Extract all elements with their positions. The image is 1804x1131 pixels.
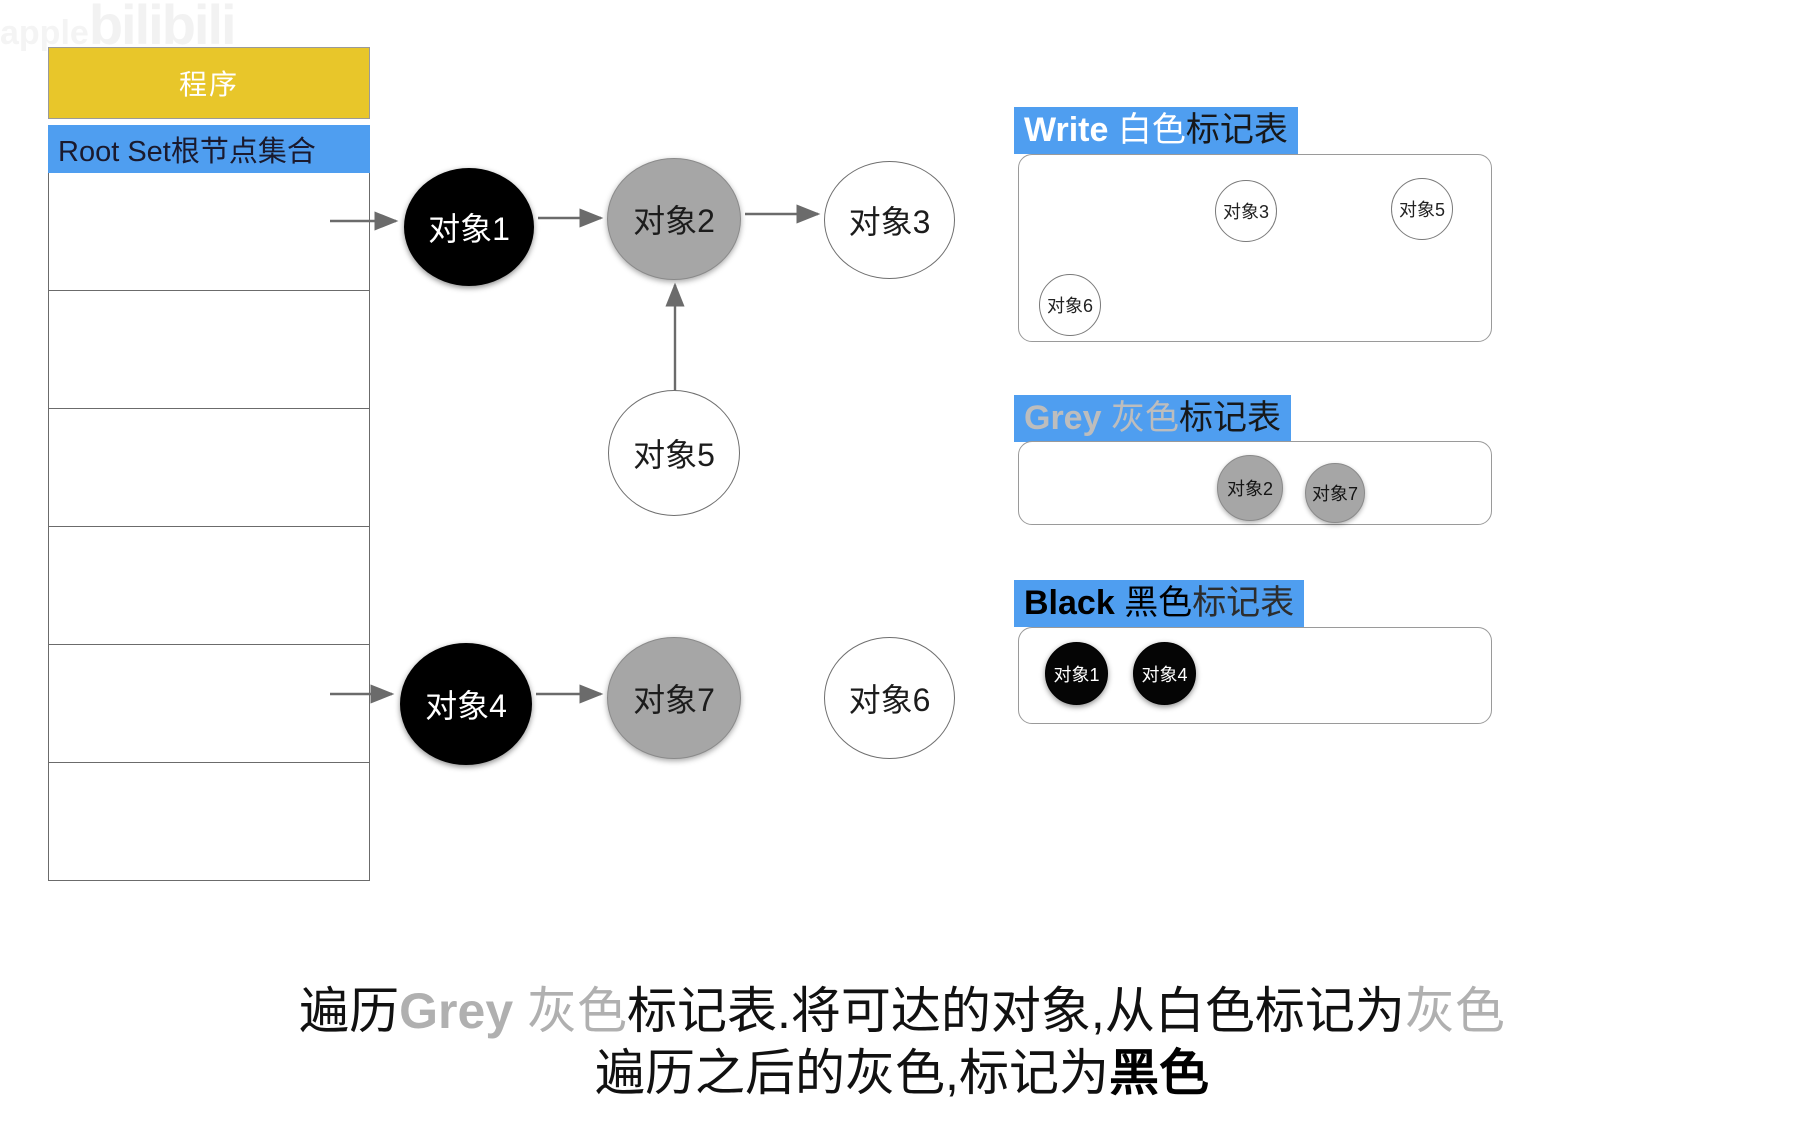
mark-item-label: 对象5 [1399, 196, 1445, 222]
black-list-title: Black 黑色标记表 [1014, 580, 1304, 627]
black-list-title-cn: 黑色 [1124, 582, 1192, 624]
graph-node-obj5[interactable]: 对象5 [608, 390, 740, 516]
black-list-title-suffix: 标记表 [1192, 582, 1294, 624]
grey-list-box: 对象2对象7 [1018, 441, 1492, 525]
black-list-item[interactable]: 对象4 [1133, 642, 1196, 705]
program-box: 程序 [48, 47, 370, 119]
grey-list-item[interactable]: 对象2 [1217, 455, 1283, 521]
white-list-title: Write 白色标记表 [1014, 107, 1298, 154]
grey-list-item[interactable]: 对象7 [1305, 463, 1365, 523]
graph-node-label: 对象6 [849, 675, 931, 721]
graph-node-label: 对象4 [425, 681, 507, 727]
graph-node-obj1[interactable]: 对象1 [404, 168, 534, 286]
caption-l1-grey-tail: 灰色 [1405, 983, 1505, 1039]
mark-item-label: 对象7 [1312, 480, 1358, 506]
white-list-items: 对象3对象5对象6 [1019, 155, 1491, 341]
mark-item-label: 对象6 [1047, 292, 1093, 318]
graph-node-label: 对象3 [849, 197, 931, 243]
caption-l1-grey-en: Grey [399, 983, 513, 1039]
white-list-box: 对象3对象5对象6 [1018, 154, 1492, 342]
graph-node-obj2[interactable]: 对象2 [607, 158, 741, 280]
rootset-label: Root Set根节点集合 [58, 128, 316, 170]
grey-list-title-suffix: 标记表 [1179, 397, 1281, 439]
grey-list-title-en: Grey [1024, 397, 1102, 439]
watermark-logo: bilibili [89, 0, 235, 56]
white-list-title-en: Write [1024, 109, 1108, 151]
white-list-title-cn: 白色 [1118, 109, 1186, 151]
white-list-item[interactable]: 对象5 [1391, 178, 1453, 240]
bilibili-watermark: applebilibili [0, 0, 330, 56]
caption-line-1: 遍历Grey 灰色标记表.将可达的对象,从白色标记为灰色 [0, 980, 1804, 1042]
graph-node-label: 对象2 [633, 196, 715, 242]
mark-item-label: 对象1 [1053, 661, 1099, 687]
white-list-title-suffix: 标记表 [1186, 109, 1288, 151]
rootset-table [48, 173, 370, 881]
graph-node-label: 对象5 [633, 430, 715, 476]
caption-l2-a: 遍历之后的灰色,标记为 [595, 1045, 1109, 1101]
caption-l1-a: 遍历 [299, 983, 399, 1039]
graph-node-obj3[interactable]: 对象3 [824, 161, 955, 279]
caption-l1-grey-cn: 灰色 [513, 983, 627, 1039]
graph-node-obj6[interactable]: 对象6 [824, 637, 955, 759]
rootset-row [49, 527, 369, 645]
mark-item-label: 对象3 [1223, 198, 1269, 224]
rootset-row [49, 409, 369, 527]
grey-list-items: 对象2对象7 [1019, 442, 1491, 524]
graph-node-label: 对象7 [633, 675, 715, 721]
rootset-row [49, 291, 369, 409]
black-list-title-en: Black [1024, 582, 1115, 624]
grey-list-title: Grey 灰色标记表 [1014, 395, 1291, 442]
black-list-box: 对象1对象4 [1018, 627, 1492, 724]
caption-l2-bold: 黑色 [1109, 1045, 1209, 1101]
graph-node-label: 对象1 [428, 204, 510, 250]
caption: 遍历Grey 灰色标记表.将可达的对象,从白色标记为灰色 遍历之后的灰色,标记为… [0, 980, 1804, 1104]
rootset-header: Root Set根节点集合 [48, 125, 370, 173]
white-list-item[interactable]: 对象6 [1039, 274, 1101, 336]
rootset-row [49, 763, 369, 880]
diagram-canvas: applebilibili 程序 Root Set根节点集合 对象1对象2对象3… [0, 0, 1804, 1131]
rootset-row [49, 645, 369, 763]
mark-item-label: 对象4 [1141, 661, 1187, 687]
caption-line-2: 遍历之后的灰色,标记为黑色 [0, 1042, 1804, 1104]
graph-node-obj4[interactable]: 对象4 [400, 643, 532, 765]
white-list-item[interactable]: 对象3 [1215, 180, 1277, 242]
grey-list-title-cn: 灰色 [1111, 397, 1179, 439]
program-label: 程序 [179, 63, 239, 103]
mark-item-label: 对象2 [1227, 475, 1273, 501]
graph-node-obj7[interactable]: 对象7 [607, 637, 741, 759]
caption-l1-b: 标记表.将可达的对象,从白色标记为 [627, 983, 1405, 1039]
black-list-item[interactable]: 对象1 [1045, 642, 1108, 705]
watermark-prefix: apple [0, 14, 89, 52]
black-list-items: 对象1对象4 [1019, 628, 1491, 723]
rootset-row [49, 173, 369, 291]
